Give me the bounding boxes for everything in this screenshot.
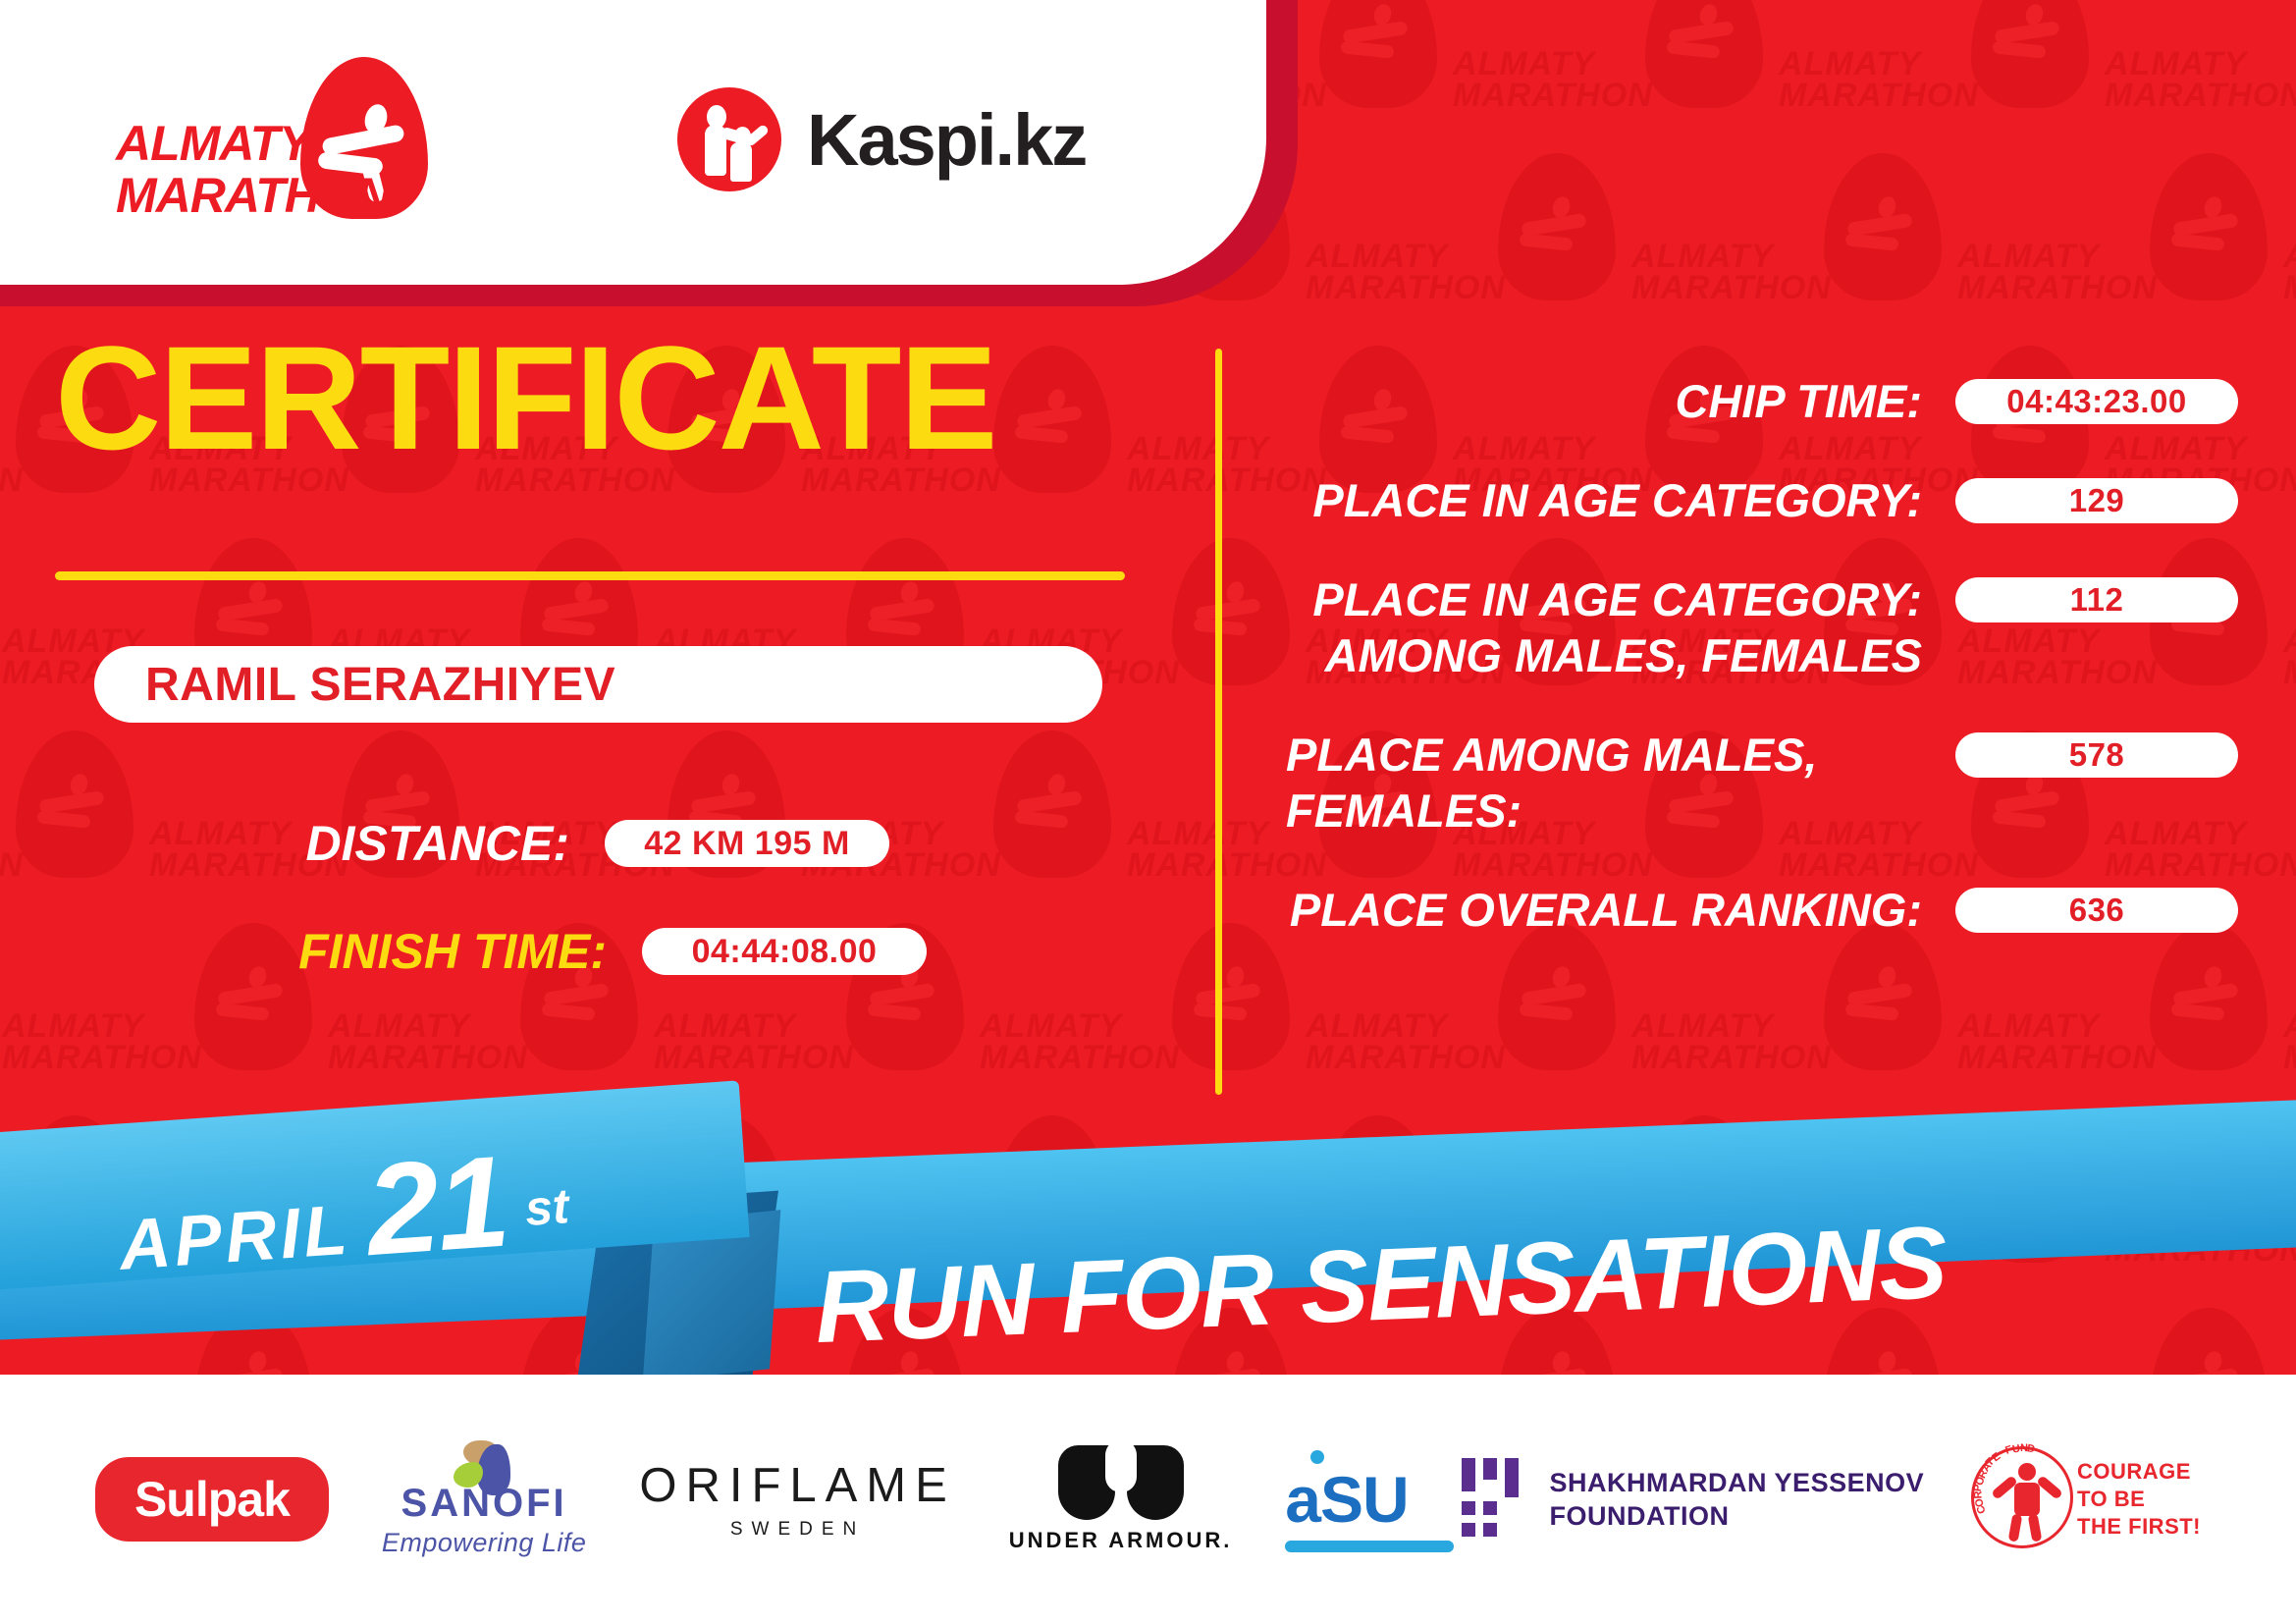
watermark-text-line2: MARATHON xyxy=(1453,79,1653,112)
watermark-text-line2: MARATHON xyxy=(0,463,24,497)
results-panel: CHIP TIME: 04:43:23.00 PLACE IN AGE CATE… xyxy=(1266,373,2238,981)
watermark-text-line1: ALMATY xyxy=(2283,624,2296,658)
watermark-text-line2: MARATHON xyxy=(654,1041,854,1074)
courage-figure-right-leg-shape xyxy=(2028,1513,2043,1542)
watermark-tile: ALMATYMARATHON xyxy=(1453,0,1767,157)
watermark-text-line2: MARATHON xyxy=(2283,656,2296,689)
watermark-runner-leg-shape xyxy=(1519,233,1573,251)
kaspi-logo: Kaspi.kz xyxy=(677,86,1086,192)
courage-fund-ring-char: D xyxy=(2026,1442,2037,1455)
watermark-runner-leg-shape xyxy=(215,618,269,636)
watermark-runner-icon xyxy=(1015,389,1088,446)
marathon-wordmark-line2: MARATHON xyxy=(116,170,391,222)
athlete-name-value: RAMIL SERAZHIYEV xyxy=(145,658,615,712)
courage-fund-figure-icon xyxy=(1991,1457,2063,1542)
place-age-category-value-pill: 129 xyxy=(1955,478,2238,523)
place-overall-label: PLACE OVERALL RANKING: xyxy=(1266,882,1955,938)
under-armour-notch-shape xyxy=(1105,1439,1137,1492)
yessenov-wordmark: SHAKHMARDAN YESSENOV FOUNDATION xyxy=(1550,1466,1925,1533)
page-title: CERTIFICATE xyxy=(55,324,996,471)
watermark-runner-leg-shape xyxy=(1844,1002,1898,1021)
watermark-runner-leg-shape xyxy=(867,618,921,636)
result-row-place-among-gender: PLACE AMONG MALES, FEMALES: 578 xyxy=(1266,727,2238,839)
place-age-category-gender-value: 112 xyxy=(2070,581,2124,619)
distance-row: DISTANCE: 42 KM 195 M xyxy=(0,815,1139,872)
sponsor-footer: Sulpak SANOFI Empowering Life ORIFLAME S… xyxy=(0,1375,2296,1624)
result-row-place-age-category: PLACE IN AGE CATEGORY: 129 xyxy=(1266,472,2238,528)
place-overall-value-pill: 636 xyxy=(1955,888,2238,933)
yessenov-bars-icon xyxy=(1462,1458,1530,1541)
finish-time-value: 04:44:08.00 xyxy=(692,933,878,971)
watermark-runner-leg-shape xyxy=(1014,425,1068,444)
chip-time-value-pill: 04:43:23.00 xyxy=(1955,379,2238,424)
under-armour-wordmark: UNDER ARMOUR. xyxy=(1009,1528,1233,1553)
place-age-category-label: PLACE IN AGE CATEGORY: xyxy=(1266,472,1955,528)
watermark-tile: ALMATYMARATHON xyxy=(2105,0,2296,157)
watermark-runner-icon xyxy=(868,581,940,638)
finish-time-value-pill: 04:44:08.00 xyxy=(642,928,927,975)
sulpak-wordmark: Sulpak xyxy=(95,1457,329,1542)
sponsor-logo-courage-fund: CORPORATE FUND COURAGE TO BE THE FIRST! xyxy=(1977,1440,2201,1558)
oriflame-wordmark: ORIFLAME xyxy=(639,1458,955,1513)
distance-label: DISTANCE: xyxy=(0,815,569,872)
watermark-runner-icon xyxy=(542,581,614,638)
distance-value: 42 KM 195 M xyxy=(644,825,850,863)
place-among-gender-label-line1: PLACE AMONG MALES, xyxy=(1286,727,1922,783)
watermark-runner-leg-shape xyxy=(1844,233,1898,251)
finish-time-row: FINISH TIME: 04:44:08.00 xyxy=(0,923,1139,980)
chip-time-value: 04:43:23.00 xyxy=(2006,383,2186,420)
watermark-text-line2: MARATHON xyxy=(2283,271,2296,304)
watermark-text-line1: ALMATY xyxy=(1306,240,1448,273)
almaty-marathon-logo: ALMATY MARATHON xyxy=(116,57,430,214)
watermark-text-line1: ALMATY xyxy=(2,1009,144,1043)
courage-fund-line1: COURAGE xyxy=(2077,1458,2201,1486)
watermark-runner-leg-shape xyxy=(1519,1002,1573,1021)
watermark-text-line1: ALMATY xyxy=(2283,240,2296,273)
watermark-runner-icon xyxy=(1845,196,1918,253)
watermark-runner-leg-shape xyxy=(1340,40,1394,59)
watermark-text-line2: MARATHON xyxy=(1631,1041,1832,1074)
watermark-runner-icon xyxy=(1993,4,2065,61)
yessenov-wordmark-line2: FOUNDATION xyxy=(1550,1499,1925,1533)
watermark-text-line2: MARATHON xyxy=(1957,271,2158,304)
watermark-tile: ALMATYMARATHON xyxy=(1306,153,1620,350)
finish-time-label: FINISH TIME: xyxy=(0,923,607,980)
watermark-runner-icon xyxy=(2171,196,2244,253)
watermark-text-line1: ALMATY xyxy=(1631,1009,1774,1043)
column-divider xyxy=(1215,349,1222,1095)
sanofi-tagline: Empowering Life xyxy=(382,1528,587,1558)
watermark-text-line1: ALMATY xyxy=(1306,1009,1448,1043)
watermark-text-line1: ALMATY xyxy=(1127,817,1269,850)
event-day: 21 xyxy=(363,1143,511,1269)
courage-figure-body-shape xyxy=(2014,1483,2040,1516)
watermark-tile: ALMATYMARATHON xyxy=(1957,153,2271,350)
watermark-text-line1: ALMATY xyxy=(1453,47,1595,81)
asu-underline-icon xyxy=(1285,1541,1454,1552)
place-age-category-gender-value-pill: 112 xyxy=(1955,577,2238,623)
title-underline xyxy=(55,571,1125,580)
place-among-gender-value: 578 xyxy=(2069,736,2125,774)
watermark-text-line2: MARATHON xyxy=(1957,1041,2158,1074)
watermark-text-line2: MARATHON xyxy=(1306,1041,1506,1074)
sponsor-logo-asu: aSU xyxy=(1285,1440,1408,1558)
watermark-text-line1: ALMATY xyxy=(1631,240,1774,273)
kaspi-child-body-shape xyxy=(730,142,752,182)
watermark-text-line1: ALMATY xyxy=(1779,47,1921,81)
watermark-text-line1: ALMATY xyxy=(1127,432,1269,465)
place-among-gender-label-line2: FEMALES: xyxy=(1286,783,1922,839)
watermark-text-line1: ALMATY xyxy=(328,1009,470,1043)
place-age-category-gender-label-line2: AMONG MALES, FEMALES xyxy=(1266,627,1922,683)
place-age-category-gender-label-line1: PLACE IN AGE CATEGORY: xyxy=(1266,571,1922,627)
watermark-text-line2: MARATHON xyxy=(2105,79,2296,112)
sponsor-row: Sulpak SANOFI Empowering Life ORIFLAME S… xyxy=(0,1375,2296,1624)
watermark-text-line1: ALMATY xyxy=(2105,47,2247,81)
place-among-gender-value-pill: 578 xyxy=(1955,732,2238,778)
watermark-runner-leg-shape xyxy=(541,618,595,636)
watermark-tile: ALMATYMARATHON xyxy=(1631,153,1946,350)
sanofi-bird-icon xyxy=(450,1440,518,1476)
watermark-tile: ALMATYMARATHON xyxy=(2283,538,2296,734)
watermark-tile: ALMATYMARATHON xyxy=(2283,923,2296,1119)
watermark-text-line2: MARATHON xyxy=(1779,79,1979,112)
watermark-text-line1: ALMATY xyxy=(1957,1009,2100,1043)
asu-wordmark: aSU xyxy=(1285,1462,1408,1537)
event-month: APRIL xyxy=(117,1190,353,1286)
watermark-text-line2: MARATHON xyxy=(1631,271,1832,304)
watermark-runner-leg-shape xyxy=(1992,40,2046,59)
marathon-wordmark: ALMATY MARATHON xyxy=(116,118,391,222)
courage-figure-right-arm-shape xyxy=(2036,1475,2063,1500)
courage-fund-wordmark: COURAGE TO BE THE FIRST! xyxy=(2077,1458,2201,1541)
watermark-runner-leg-shape xyxy=(541,1002,595,1021)
courage-fund-line2: TO BE xyxy=(2077,1486,2201,1513)
watermark-runner-leg-shape xyxy=(867,1002,921,1021)
chip-time-label: CHIP TIME: xyxy=(1266,373,1955,429)
kaspi-wordmark: Kaspi.kz xyxy=(807,98,1086,182)
watermark-text-line1: ALMATY xyxy=(980,1009,1122,1043)
athlete-name-field: RAMIL SERAZHIYEV xyxy=(94,646,1102,723)
under-armour-icon xyxy=(1058,1445,1184,1520)
event-day-suffix: st xyxy=(522,1157,572,1258)
watermark-text-line1: ALMATY xyxy=(654,1009,796,1043)
watermark-runner-icon xyxy=(1520,196,1592,253)
courage-figure-left-leg-shape xyxy=(2008,1513,2023,1542)
kaspi-child-arm-shape xyxy=(744,124,770,147)
sponsor-logo-shakhmardan-yessenov: SHAKHMARDAN YESSENOV FOUNDATION xyxy=(1462,1440,1925,1558)
result-row-chip-time: CHIP TIME: 04:43:23.00 xyxy=(1266,373,2238,429)
watermark-text-line1: ALMATY xyxy=(1957,240,2100,273)
watermark-text-line2: MARATHON xyxy=(328,1041,528,1074)
watermark-runner-icon xyxy=(1341,4,1414,61)
sponsor-logo-sulpak: Sulpak xyxy=(95,1440,329,1558)
watermark-text-line1: ALMATY xyxy=(2283,1009,2296,1043)
sponsor-logo-oriflame: ORIFLAME SWEDEN xyxy=(639,1440,955,1558)
kaspi-family-circle-icon xyxy=(677,87,781,191)
watermark-runner-icon xyxy=(1667,4,1739,61)
watermark-runner-leg-shape xyxy=(1666,40,1720,59)
header-logo-row: ALMATY MARATHON Kaspi.kz xyxy=(0,0,1266,285)
watermark-tile: ALMATYMARATHON xyxy=(2283,153,2296,350)
watermark-text-line2: MARATHON xyxy=(2,1041,202,1074)
place-overall-value: 636 xyxy=(2069,892,2125,929)
courage-fund-line3: THE FIRST! xyxy=(2077,1513,2201,1541)
place-age-category-value: 129 xyxy=(2069,482,2125,519)
watermark-text-line2: MARATHON xyxy=(980,1041,1180,1074)
sponsor-logo-under-armour: UNDER ARMOUR. xyxy=(1009,1440,1233,1558)
yessenov-wordmark-line1: SHAKHMARDAN YESSENOV xyxy=(1550,1466,1925,1499)
place-age-category-gender-label: PLACE IN AGE CATEGORY: AMONG MALES, FEMA… xyxy=(1266,571,1955,683)
watermark-tile: ALMATYMARATHON xyxy=(1779,0,2093,157)
watermark-runner-leg-shape xyxy=(215,1002,269,1021)
distance-value-pill: 42 KM 195 M xyxy=(605,820,889,867)
watermark-runner-leg-shape xyxy=(2170,233,2224,251)
marathon-wordmark-line1: ALMATY xyxy=(116,118,391,170)
watermark-runner-icon xyxy=(1194,581,1266,638)
courage-figure-head-shape xyxy=(2018,1463,2036,1481)
place-among-gender-label: PLACE AMONG MALES, FEMALES: xyxy=(1266,727,1955,839)
sponsor-logo-sanofi: SANOFI Empowering Life xyxy=(382,1440,587,1558)
result-row-place-age-category-gender: PLACE IN AGE CATEGORY: AMONG MALES, FEMA… xyxy=(1266,571,2238,683)
watermark-text-line2: MARATHON xyxy=(2283,1041,2296,1074)
oriflame-subtitle: SWEDEN xyxy=(730,1519,865,1541)
watermark-runner-icon xyxy=(216,581,289,638)
watermark-runner-leg-shape xyxy=(2170,1002,2224,1021)
result-row-place-overall: PLACE OVERALL RANKING: 636 xyxy=(1266,882,2238,938)
watermark-runner-icon xyxy=(1194,966,1266,1023)
watermark-text-line2: MARATHON xyxy=(1306,271,1506,304)
